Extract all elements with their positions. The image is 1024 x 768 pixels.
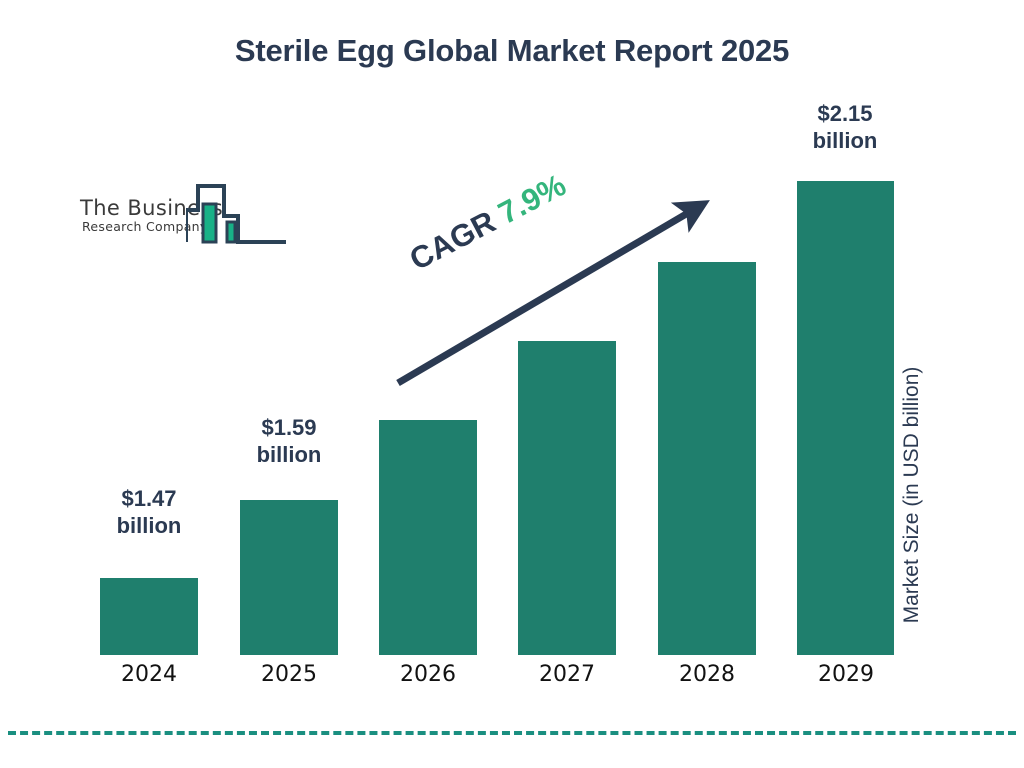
x-tick-2028: 2028 xyxy=(657,662,757,687)
bar-value-label-2024-line2: billion xyxy=(57,512,241,539)
y-axis-label-text: Market Size (in USD billion) xyxy=(900,330,924,660)
x-tick-2024: 2024 xyxy=(99,662,199,687)
bar-value-label-2029-line1: $2.15 xyxy=(753,100,937,127)
bar-2027[interactable] xyxy=(518,341,616,655)
bar-value-label-2024-line1: $1.47 xyxy=(57,485,241,512)
chart-container: Sterile Egg Global Market Report 2025 Th… xyxy=(0,0,1024,768)
bar-2028[interactable] xyxy=(658,262,756,655)
plot-area: $1.47 billion $1.59 billion $2.15 billio… xyxy=(0,0,1024,768)
bar-value-label-2024: $1.47 billion xyxy=(57,485,241,540)
bar-value-label-2025-line1: $1.59 xyxy=(197,414,381,441)
x-tick-2029: 2029 xyxy=(796,662,896,687)
bar-2026[interactable] xyxy=(379,420,477,655)
bar-value-label-2029: $2.15 billion xyxy=(753,100,937,155)
x-tick-2025: 2025 xyxy=(239,662,339,687)
bar-2025[interactable] xyxy=(240,500,338,655)
bar-value-label-2029-line2: billion xyxy=(753,127,937,154)
bar-value-label-2025: $1.59 billion xyxy=(197,414,381,469)
bar-2024[interactable] xyxy=(100,578,198,655)
x-tick-2026: 2026 xyxy=(378,662,478,687)
bar-value-label-2025-line2: billion xyxy=(197,441,381,468)
x-tick-2027: 2027 xyxy=(517,662,617,687)
bar-2029[interactable] xyxy=(797,181,894,655)
footer-dashed-divider xyxy=(8,731,1016,735)
